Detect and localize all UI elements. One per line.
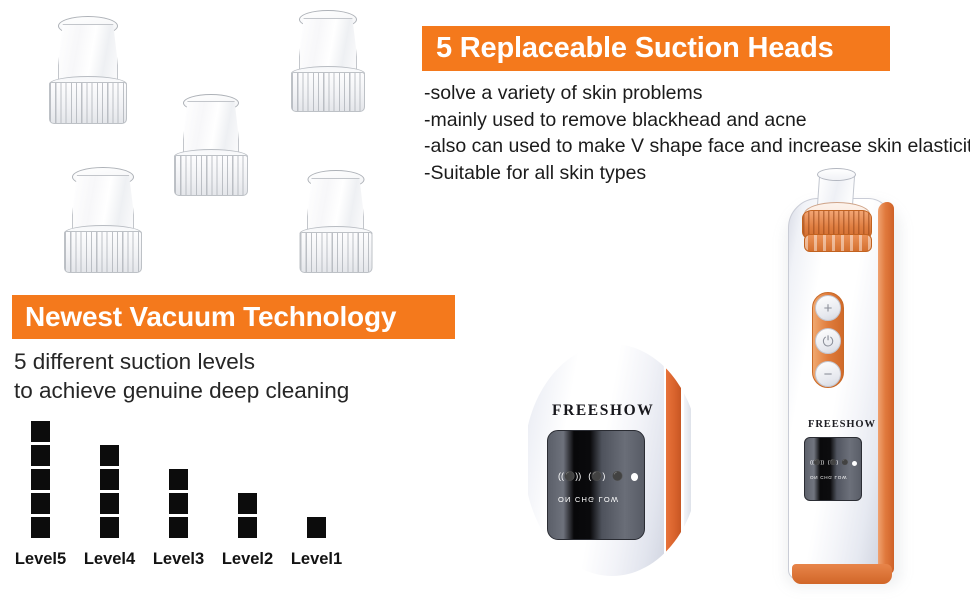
device-body <box>788 198 892 580</box>
signal-strong-icon: ((⚫)) <box>558 471 581 482</box>
magnifier-display-panel: ((⚫)) (⚫) ⚫ ON CHG LOW <box>547 430 645 540</box>
bar-segment <box>100 445 119 466</box>
suction-head-5 <box>288 168 384 286</box>
vacuum-technology-banner-title: Newest Vacuum Technology <box>12 295 455 339</box>
decrease-suction-button[interactable]: − <box>815 361 841 387</box>
signal-medium-icon: (⚫) <box>828 460 839 466</box>
signal-weak-icon: ⚫ <box>842 460 849 466</box>
suction-heads-banner-title: 5 Replaceable Suction Heads <box>422 26 890 71</box>
suction-head-base <box>300 232 373 273</box>
magnifier-accent-stripe <box>666 344 681 576</box>
suction-heads-bullet-list: -solve a variety of skin problems -mainl… <box>424 80 970 186</box>
vacuum-technology-subtitle: 5 different suction levels to achieve ge… <box>14 347 444 405</box>
bar-level2 <box>238 493 257 538</box>
device-status-labels: ON CHG LOW <box>810 475 847 480</box>
suction-head-base <box>49 82 127 124</box>
bar-segment <box>31 517 50 538</box>
bar-segment <box>169 493 188 514</box>
bar-segment <box>307 517 326 538</box>
dot-icon <box>631 473 638 481</box>
bar-segment <box>100 493 119 514</box>
device-collar-lower <box>804 234 872 252</box>
bar-label-level4: Level4 <box>76 550 144 569</box>
device-indicator-icons: ((⚫)) (⚫) ⚫ <box>810 460 857 466</box>
bar-segment <box>31 421 50 442</box>
suction-level-chart: Level5Level4Level3Level2Level1 <box>0 415 380 575</box>
device-accent-edge <box>878 202 894 574</box>
bar-label-level1: Level1 <box>283 550 351 569</box>
signal-weak-icon: ⚫ <box>612 471 623 482</box>
bar-segment <box>31 469 50 490</box>
suction-head-base <box>291 72 365 112</box>
subtitle-line-2: to achieve genuine deep cleaning <box>14 376 444 405</box>
power-button[interactable]: ⏻ <box>815 328 841 354</box>
bullet-item-2: -mainly used to remove blackhead and acn… <box>424 107 970 134</box>
suction-head-2 <box>280 8 376 126</box>
magnifier-indicator-icons: ((⚫)) (⚫) ⚫ <box>558 471 638 482</box>
bar-segment <box>238 493 257 514</box>
signal-medium-icon: (⚫) <box>588 471 605 482</box>
suction-head-4 <box>55 165 151 283</box>
suction-head-base <box>174 155 248 196</box>
bullet-item-1: -solve a variety of skin problems <box>424 80 970 107</box>
bar-segment <box>169 517 188 538</box>
bar-segment <box>100 469 119 490</box>
bar-segment <box>100 517 119 538</box>
suction-head-base <box>64 231 142 273</box>
bar-segment <box>31 493 50 514</box>
device-bottom-cap <box>792 564 892 584</box>
device-display-panel: ((⚫)) (⚫) ⚫ ON CHG LOW <box>804 437 862 501</box>
device-closeup-magnifier: FREESHOW ((⚫)) (⚫) ⚫ ON CHG LOW <box>524 344 700 576</box>
increase-suction-button[interactable]: + <box>815 295 841 321</box>
blackhead-remover-device: + ⏻ − FREESHOW ((⚫)) (⚫) ⚫ ON CHG LOW <box>762 172 938 592</box>
magnifier-edge-highlight <box>684 344 691 576</box>
bar-level3 <box>169 469 188 538</box>
bar-label-level3: Level3 <box>145 550 213 569</box>
bar-level4 <box>100 445 119 538</box>
magnifier-status-labels: ON CHG LOW <box>558 495 619 504</box>
bar-level1 <box>307 517 326 538</box>
subtitle-line-1: 5 different suction levels <box>14 347 444 376</box>
device-brand-label: FREESHOW <box>808 419 876 430</box>
bar-label-level5: Level5 <box>7 550 75 569</box>
product-infographic: 5 Replaceable Suction Heads -solve a var… <box>0 0 970 600</box>
signal-strong-icon: ((⚫)) <box>810 460 824 466</box>
bar-segment <box>238 517 257 538</box>
bar-level5 <box>31 421 50 538</box>
suction-head-1 <box>40 14 136 132</box>
bar-segment <box>31 445 50 466</box>
bullet-item-3: -also can used to make V shape face and … <box>424 133 970 160</box>
device-suction-tip-rim <box>817 168 856 181</box>
bar-label-level2: Level2 <box>214 550 282 569</box>
magnifier-brand-label: FREESHOW <box>552 402 654 420</box>
dot-icon <box>852 461 857 466</box>
suction-head-3 <box>163 92 259 210</box>
bar-segment <box>169 469 188 490</box>
